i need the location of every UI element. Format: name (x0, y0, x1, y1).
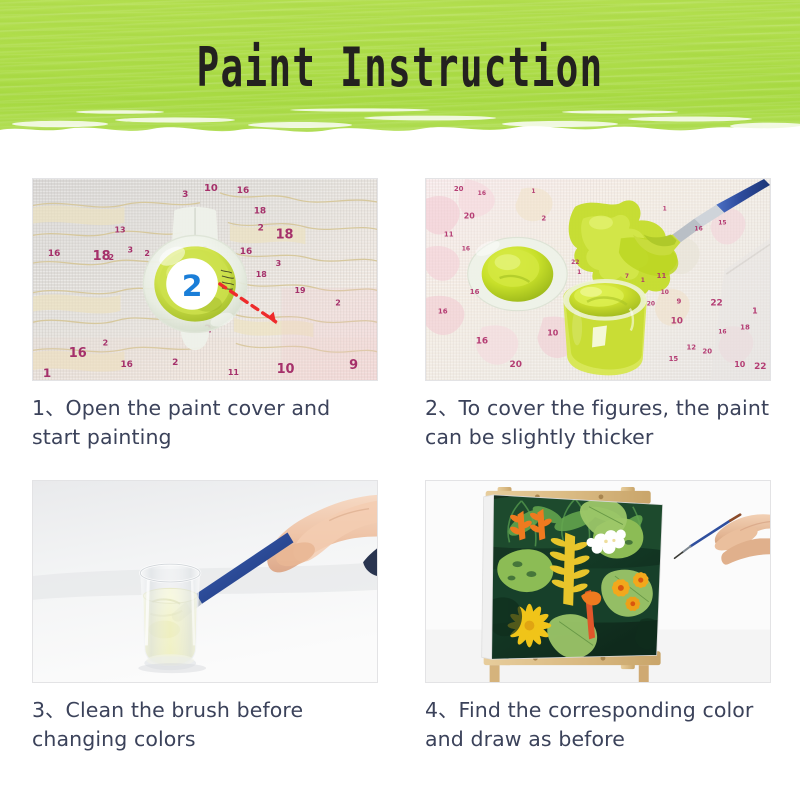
step-1-number: 1、 (32, 396, 66, 420)
step-3-photo (32, 480, 378, 683)
svg-text:12: 12 (686, 343, 696, 351)
step-card-2: 20 16 1 20 11 16 2 16 16 16 20 10 22 1 7… (425, 178, 773, 452)
svg-text:18: 18 (276, 227, 294, 242)
step-2-photo: 20 16 1 20 11 16 2 16 16 16 20 10 22 1 7… (425, 178, 771, 381)
svg-text:11: 11 (228, 368, 239, 377)
svg-text:10: 10 (277, 362, 295, 377)
svg-text:20: 20 (454, 185, 464, 193)
step-2-caption: 2、To cover the figures, the paint can be… (425, 394, 777, 452)
svg-text:3: 3 (276, 259, 282, 268)
svg-text:20: 20 (702, 347, 712, 355)
svg-text:2: 2 (182, 269, 203, 304)
svg-text:1: 1 (663, 206, 667, 213)
step-4-number: 4、 (425, 698, 459, 722)
svg-text:16: 16 (478, 190, 486, 197)
svg-text:22: 22 (571, 259, 579, 266)
svg-text:16: 16 (470, 288, 480, 296)
svg-text:2: 2 (144, 249, 150, 258)
step-card-3: 3、Clean the brush before changing colors (32, 480, 380, 754)
step-3-text: Clean the brush before changing colors (32, 698, 303, 751)
step-3-caption: 3、Clean the brush before changing colors (32, 696, 384, 754)
svg-text:1: 1 (577, 269, 581, 276)
step-card-1: 3 10 16 18 13 3 2 2 16 18 18 16 16 3 18 … (32, 178, 380, 452)
banner-ragged-edge-icon (0, 96, 800, 158)
step-card-4: 4、Find the corresponding color and draw … (425, 480, 773, 754)
svg-text:13: 13 (115, 225, 126, 234)
step-1-photo: 3 10 16 18 13 3 2 2 16 18 18 16 16 3 18 … (32, 178, 378, 381)
svg-text:16: 16 (476, 336, 488, 346)
svg-text:22: 22 (754, 362, 766, 372)
step-4-photo (425, 480, 771, 683)
svg-text:16: 16 (240, 247, 252, 257)
svg-text:1: 1 (531, 188, 535, 195)
svg-text:16: 16 (462, 245, 470, 252)
svg-text:18: 18 (254, 207, 266, 217)
svg-text:18: 18 (256, 270, 268, 279)
step-2-text: To cover the figures, the paint can be s… (425, 396, 769, 449)
svg-text:16: 16 (69, 346, 87, 361)
svg-text:20: 20 (510, 360, 522, 370)
svg-text:3: 3 (127, 245, 133, 254)
svg-text:1: 1 (641, 277, 645, 284)
step-3-number: 3、 (32, 698, 66, 722)
svg-text:3: 3 (182, 190, 188, 200)
svg-text:2: 2 (335, 299, 341, 308)
page-title: Paint Instruction (72, 40, 728, 94)
svg-text:7: 7 (625, 273, 629, 280)
step-1-text: Open the paint cover and start painting (32, 396, 330, 449)
step-4-caption: 4、Find the corresponding color and draw … (425, 696, 777, 754)
svg-text:1: 1 (752, 307, 758, 316)
svg-text:10: 10 (671, 317, 683, 327)
step-4-text: Find the corresponding color and draw as… (425, 698, 753, 751)
svg-text:1: 1 (43, 366, 51, 380)
svg-text:16: 16 (438, 308, 448, 316)
svg-text:16: 16 (694, 225, 702, 232)
svg-text:16: 16 (237, 186, 249, 196)
svg-text:10: 10 (661, 289, 669, 296)
svg-text:20: 20 (464, 212, 476, 221)
step-1-caption: 1、Open the paint cover and start paintin… (32, 394, 384, 452)
svg-text:19: 19 (294, 286, 305, 295)
svg-text:10: 10 (734, 360, 746, 369)
svg-text:9: 9 (349, 358, 358, 373)
svg-text:16: 16 (48, 249, 60, 259)
svg-text:2: 2 (541, 215, 546, 223)
svg-text:15: 15 (718, 220, 726, 227)
svg-text:11: 11 (444, 230, 454, 238)
svg-text:2: 2 (258, 224, 264, 234)
svg-text:10: 10 (547, 328, 559, 337)
svg-text:2: 2 (103, 338, 109, 347)
svg-text:2: 2 (109, 253, 115, 262)
svg-text:9: 9 (677, 298, 682, 306)
svg-text:2: 2 (172, 358, 178, 368)
svg-text:16: 16 (120, 360, 132, 370)
svg-text:16: 16 (718, 328, 726, 335)
svg-text:22: 22 (710, 299, 722, 309)
svg-text:20: 20 (647, 301, 655, 308)
svg-text:11: 11 (657, 272, 667, 280)
steps-grid: 3 10 16 18 13 3 2 2 16 18 18 16 16 3 18 … (0, 158, 800, 800)
step-2-number: 2、 (425, 396, 459, 420)
svg-text:15: 15 (669, 355, 679, 363)
header-banner: Paint Instruction (0, 0, 800, 158)
svg-text:18: 18 (740, 324, 750, 332)
svg-text:10: 10 (204, 183, 218, 194)
